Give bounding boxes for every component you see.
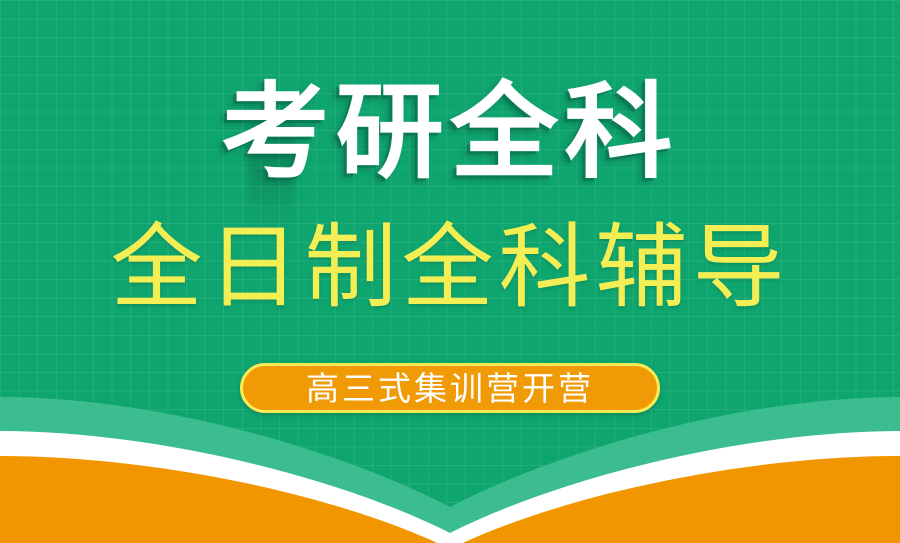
banner-headline: 考研全科 (0, 78, 900, 188)
banner-content: 考研全科 全日制全科辅导 高三式集训营开营 (0, 0, 900, 543)
promo-banner: 考研全科 全日制全科辅导 高三式集训营开营 (0, 0, 900, 543)
cta-container: 高三式集训营开营 (0, 363, 900, 413)
banner-subheadline: 全日制全科辅导 (0, 216, 900, 320)
cta-button-label: 高三式集训营开营 (306, 372, 594, 405)
cta-pill-button[interactable]: 高三式集训营开营 (240, 363, 660, 413)
